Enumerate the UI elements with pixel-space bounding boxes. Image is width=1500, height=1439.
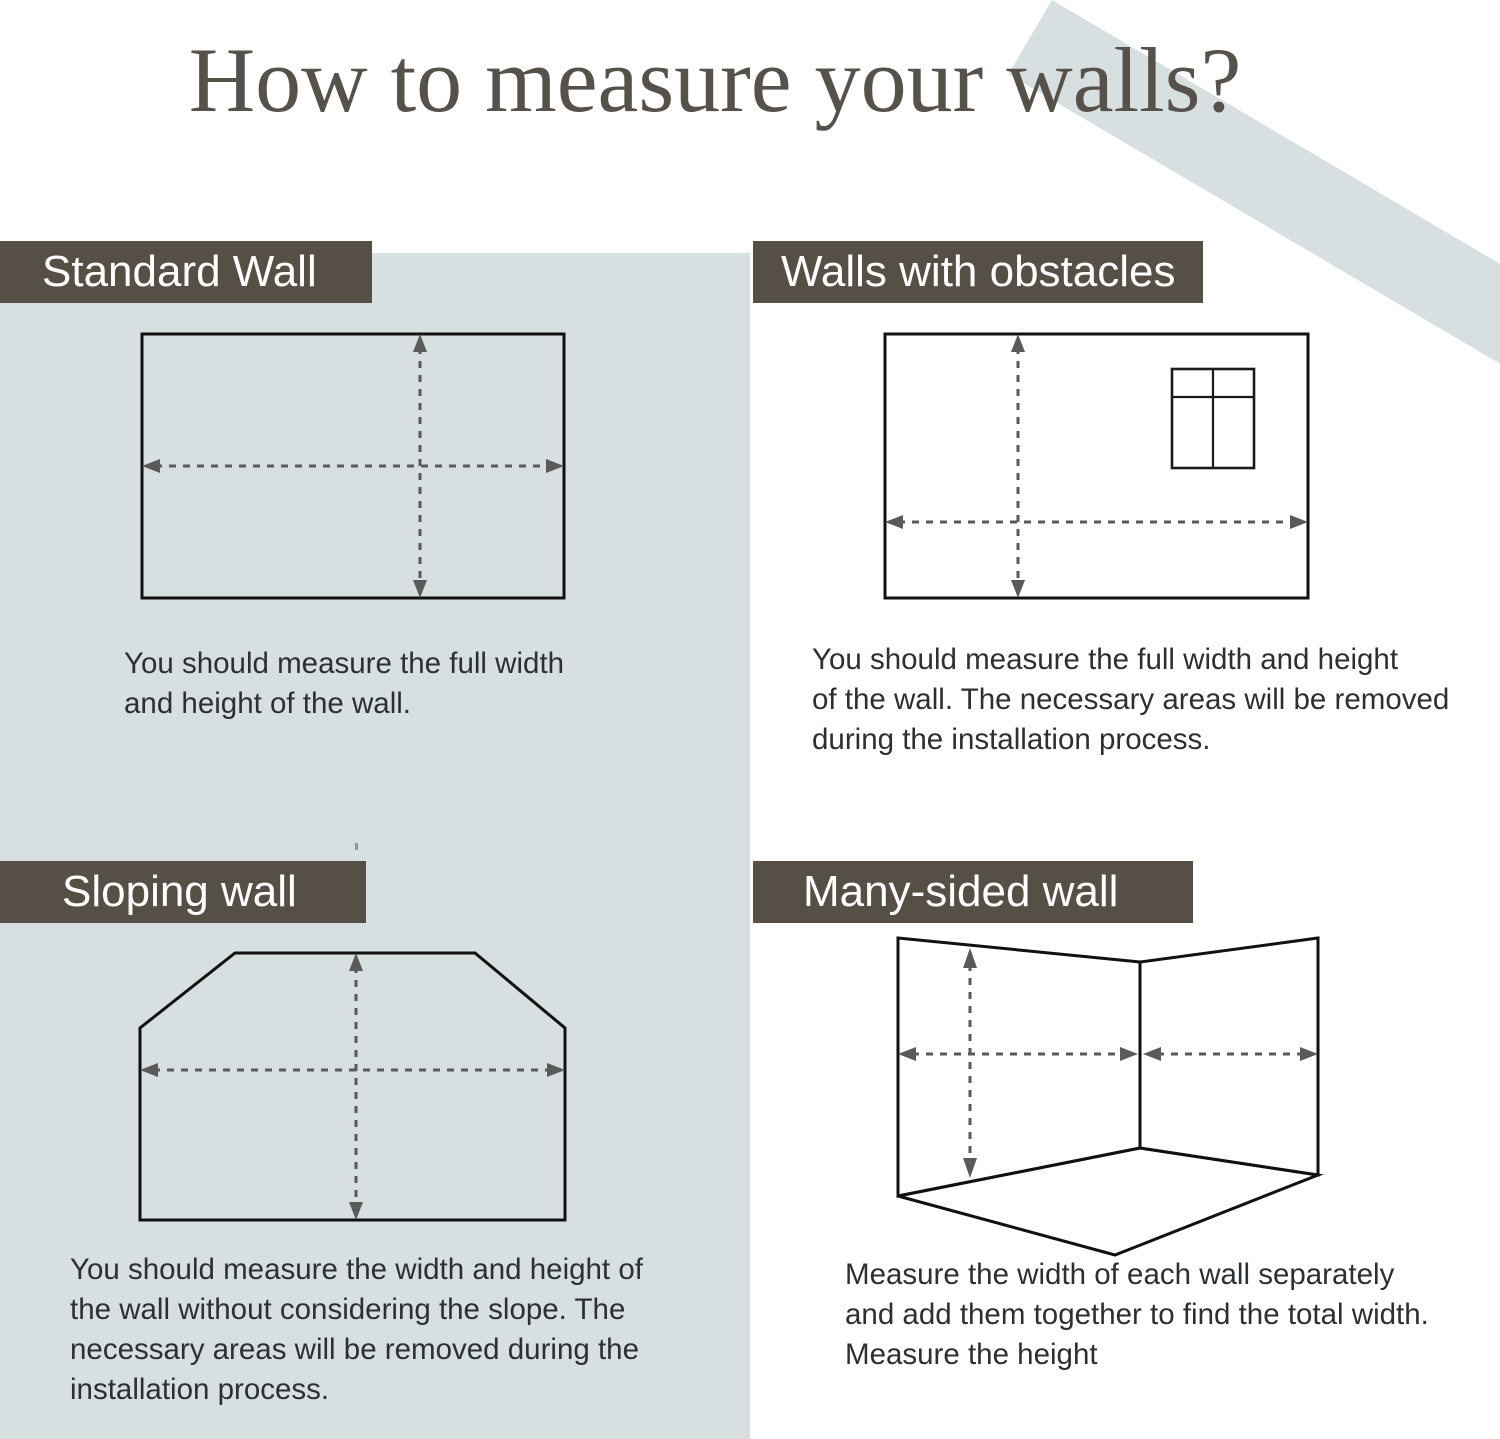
width-arrowhead-left: [140, 1063, 158, 1077]
caption-many-sided-wall: Measure the width of each wall separatel…: [845, 1255, 1475, 1375]
width-arrowhead-right: [546, 459, 564, 473]
caption-walls-with-obstacles: You should measure the full width and he…: [812, 640, 1472, 760]
height-arrowhead-top: [963, 948, 977, 968]
height-arrowhead-top: [413, 334, 427, 352]
diagram-walls-with-obstacles: [860, 315, 1340, 620]
diagram-sloping-wall: [110, 930, 610, 1250]
section-heading-sloping-wall: Sloping wall: [0, 861, 366, 923]
section-heading-standard-wall: Standard Wall: [0, 241, 372, 303]
section-heading-many-sided-wall: Many-sided wall: [753, 861, 1193, 923]
width-arrowhead-right: [547, 1063, 565, 1077]
caption-sloping-wall: You should measure the width and height …: [70, 1250, 690, 1410]
diagram-standard-wall: [120, 315, 600, 620]
height-arrowhead-bottom: [963, 1158, 977, 1178]
left-wall-plane: [898, 938, 1140, 1196]
width-arrowhead-left: [885, 515, 903, 529]
height-arrowhead-top: [1011, 334, 1025, 352]
width-arrowhead-right: [1290, 515, 1308, 529]
height-arrowhead-bottom: [413, 580, 427, 598]
sloping-wall-shape: [140, 953, 565, 1220]
height-arrowhead-bottom: [1011, 580, 1025, 598]
right-wall-plane: [1140, 938, 1318, 1175]
wall-rectangle: [885, 334, 1308, 598]
height-arrowhead-bottom: [349, 1202, 363, 1220]
diagram-many-sided-wall: [870, 920, 1350, 1270]
floor-plane: [898, 1148, 1318, 1255]
section-heading-walls-with-obstacles: Walls with obstacles: [753, 241, 1203, 303]
infographic-canvas: How to measure your walls? Standard Wall…: [0, 0, 1500, 1439]
page-title: How to measure your walls?: [0, 32, 1430, 129]
left-wall-width-arrowhead-right: [1120, 1047, 1138, 1061]
caption-standard-wall: You should measure the full width and he…: [124, 644, 664, 724]
height-arrowhead-top: [349, 953, 363, 971]
right-wall-width-arrowhead-left: [1143, 1047, 1161, 1061]
width-arrowhead-left: [142, 459, 160, 473]
scan-artifact-speck: [355, 843, 358, 850]
right-wall-width-arrowhead-right: [1300, 1047, 1318, 1061]
left-wall-width-arrowhead-left: [898, 1047, 916, 1061]
